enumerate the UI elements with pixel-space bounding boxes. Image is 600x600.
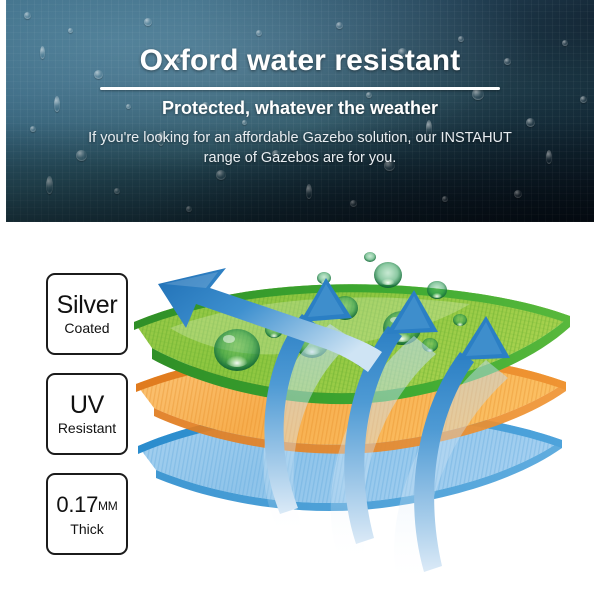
badge-main-label: Silver (57, 292, 118, 318)
badge-silver-coated: Silver Coated (46, 273, 128, 355)
badge-thickness-unit: MM (98, 499, 118, 513)
badge-thickness: 0.17MM Thick (46, 473, 128, 555)
hero-subtitle: Protected, whatever the weather (6, 98, 594, 119)
droplet (364, 252, 376, 262)
badge-thickness-value: 0.17 (56, 492, 98, 517)
hero-description: If you're looking for an affordable Gaze… (76, 128, 524, 168)
badge-sub-label: Thick (70, 521, 103, 537)
fabric-layers-illustration (130, 232, 600, 600)
badge-sub-label: Resistant (58, 420, 116, 436)
product-infographic: Oxford water resistant Protected, whatev… (0, 0, 600, 600)
droplet (214, 329, 260, 371)
droplet (374, 262, 402, 288)
badge-uv-resistant: UV Resistant (46, 373, 128, 455)
page-title: Oxford water resistant (6, 44, 594, 78)
hero-banner: Oxford water resistant Protected, whatev… (6, 0, 594, 222)
droplet (453, 314, 467, 326)
badge-main-label: 0.17MM (56, 492, 117, 519)
droplet (427, 281, 447, 299)
badge-main-label: UV (70, 392, 104, 418)
badge-sub-label: Coated (64, 320, 109, 336)
title-divider (100, 87, 500, 90)
